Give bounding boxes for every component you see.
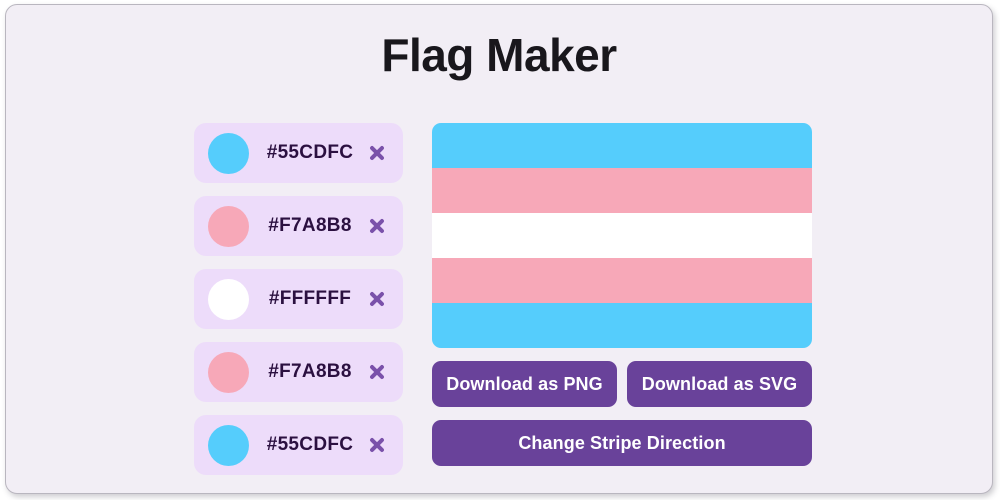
color-swatch[interactable] [208,425,249,466]
app-window: Flag Maker #55CDFC#F7A8B8#FFFFFF#F7A8B8#… [5,4,993,494]
close-icon[interactable] [367,435,387,455]
hex-value-label: #55CDFC [249,142,367,164]
download-button-row: Download as PNG Download as SVG [432,361,812,407]
close-icon[interactable] [367,362,387,382]
flag-preview [432,123,812,348]
download-png-button[interactable]: Download as PNG [432,361,617,407]
stripe-row: #55CDFC [194,123,403,183]
flag-stripe [432,213,812,258]
hex-value-label: #F7A8B8 [249,215,367,237]
stripe-list: #55CDFC#F7A8B8#FFFFFF#F7A8B8#55CDFC [194,123,403,475]
hex-value-label: #55CDFC [249,434,367,456]
color-swatch[interactable] [208,279,249,320]
close-icon[interactable] [367,216,387,236]
page-title: Flag Maker [6,30,992,81]
stripe-row: #55CDFC [194,415,403,475]
flag-stripe [432,123,812,168]
close-icon[interactable] [367,143,387,163]
color-swatch[interactable] [208,352,249,393]
download-svg-button[interactable]: Download as SVG [627,361,812,407]
flag-stripe [432,168,812,213]
color-swatch[interactable] [208,206,249,247]
flag-stripe [432,303,812,348]
flag-builder: #55CDFC#F7A8B8#FFFFFF#F7A8B8#55CDFC Down… [194,123,812,475]
hex-value-label: #F7A8B8 [249,361,367,383]
hex-value-label: #FFFFFF [249,288,367,310]
close-icon[interactable] [367,289,387,309]
stripe-row: #FFFFFF [194,269,403,329]
change-stripe-direction-button[interactable]: Change Stripe Direction [432,420,812,466]
stripe-row: #F7A8B8 [194,196,403,256]
color-swatch[interactable] [208,133,249,174]
stripe-row: #F7A8B8 [194,342,403,402]
preview-and-actions: Download as PNG Download as SVG Change S… [432,123,812,466]
flag-stripe [432,258,812,303]
